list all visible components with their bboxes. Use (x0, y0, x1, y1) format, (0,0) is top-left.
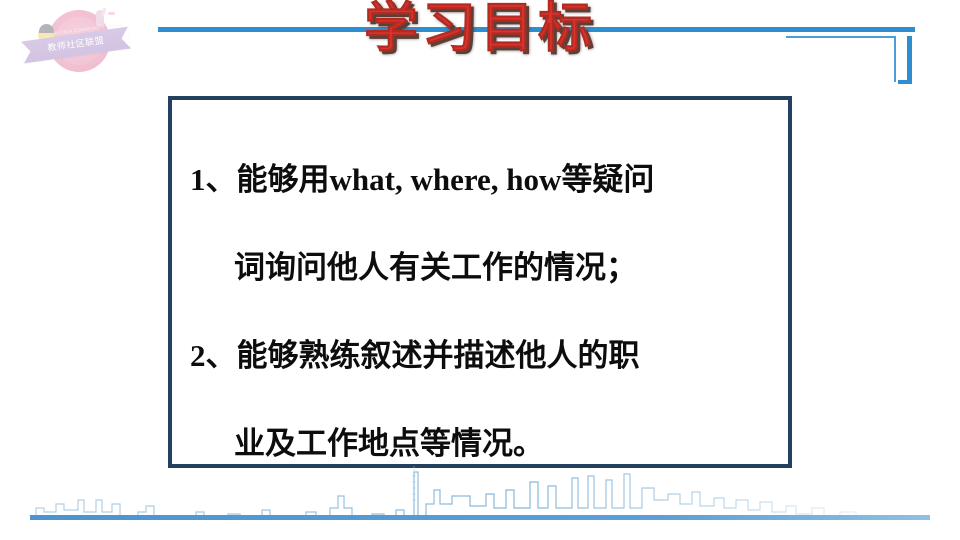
objectives-list: 1、能够用what, where, how等疑问 词询问他人有关工作的情况； 2… (182, 136, 786, 488)
objective-2-continuation: 业及工作地点等情况。 (234, 426, 544, 462)
objective-1-keywords: what, where, how (330, 162, 562, 197)
corner-bracket-decoration (786, 36, 918, 84)
bracket-vertical-line-thick (907, 36, 912, 82)
bracket-vertical-line-thin (894, 36, 896, 82)
objective-number-2: 2、 (190, 338, 237, 373)
objective-1-text-a: 能够用 (237, 162, 330, 198)
skyline-baseline (30, 515, 930, 520)
objective-number-1: 1、 (190, 162, 237, 197)
objectives-box: 1、能够用what, where, how等疑问 词询问他人有关工作的情况； 2… (168, 96, 792, 468)
list-item: 业及工作地点等情况。 (182, 400, 786, 488)
objective-1-text-b: 等疑问 (561, 162, 654, 198)
objective-1-continuation: 词询问他人有关工作的情况； (234, 250, 637, 286)
bracket-horizontal-line (786, 36, 896, 38)
list-item: 1、能够用what, where, how等疑问 (182, 136, 786, 224)
list-item: 词询问他人有关工作的情况； (182, 224, 786, 312)
slide-canvas: TEACHER COMMUNITY UNION 教师社区联盟 学习目标 1、能够… (0, 0, 960, 540)
list-item: 2、能够熟练叙述并描述他人的职 (182, 312, 786, 400)
objective-2-text: 能够熟练叙述并描述他人的职 (237, 338, 640, 374)
